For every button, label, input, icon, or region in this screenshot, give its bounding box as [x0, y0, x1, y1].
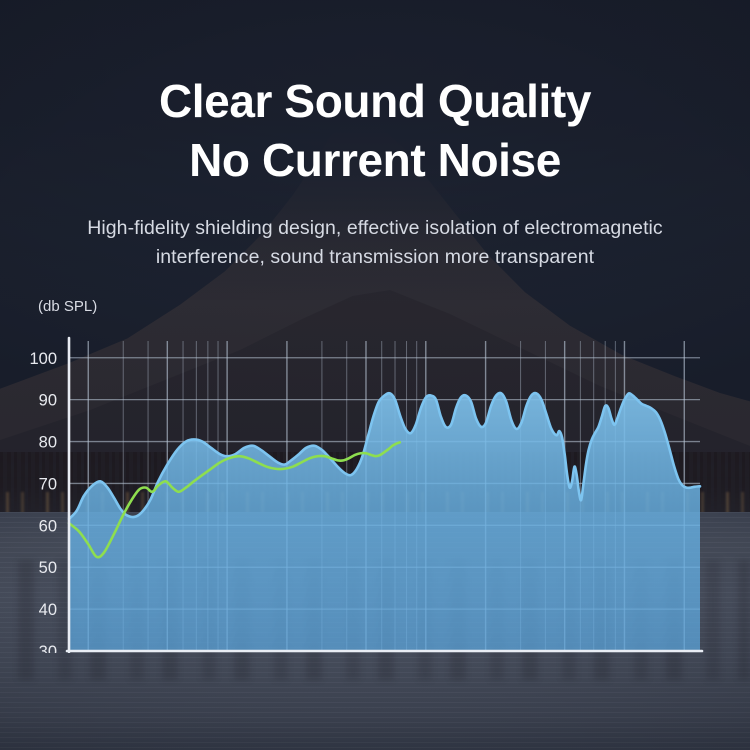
- page-title: Clear Sound Quality No Current Noise: [0, 0, 750, 190]
- title-line-1: Clear Sound Quality: [159, 75, 591, 127]
- series-frequency-response: [69, 393, 700, 651]
- y-tick-60: 60: [39, 518, 57, 536]
- title-line-2: No Current Noise: [0, 131, 750, 190]
- page-subtitle: High-fidelity shielding design, effectiv…: [0, 190, 750, 273]
- y-axis-tick-labels: 10090807060504030: [29, 350, 57, 653]
- y-tick-100: 100: [29, 350, 57, 368]
- frequency-response-chart: (db SPL) 10090807060504030 2050100200500…: [0, 298, 750, 653]
- y-tick-80: 80: [39, 434, 57, 452]
- y-tick-50: 50: [39, 559, 57, 577]
- y-tick-30: 30: [39, 643, 57, 653]
- y-tick-40: 40: [39, 601, 57, 619]
- y-axis-unit-label: (db SPL): [38, 298, 97, 315]
- y-tick-70: 70: [39, 476, 57, 494]
- promo-panel: Clear Sound Quality No Current Noise Hig…: [0, 0, 750, 750]
- chart-canvas: 10090807060504030 20501002005001k2k5k10k…: [0, 298, 750, 653]
- subtitle-line-1: High-fidelity shielding design, effectiv…: [87, 217, 662, 239]
- subtitle-line-2: interference, sound transmission more tr…: [0, 243, 750, 272]
- y-tick-90: 90: [39, 392, 57, 410]
